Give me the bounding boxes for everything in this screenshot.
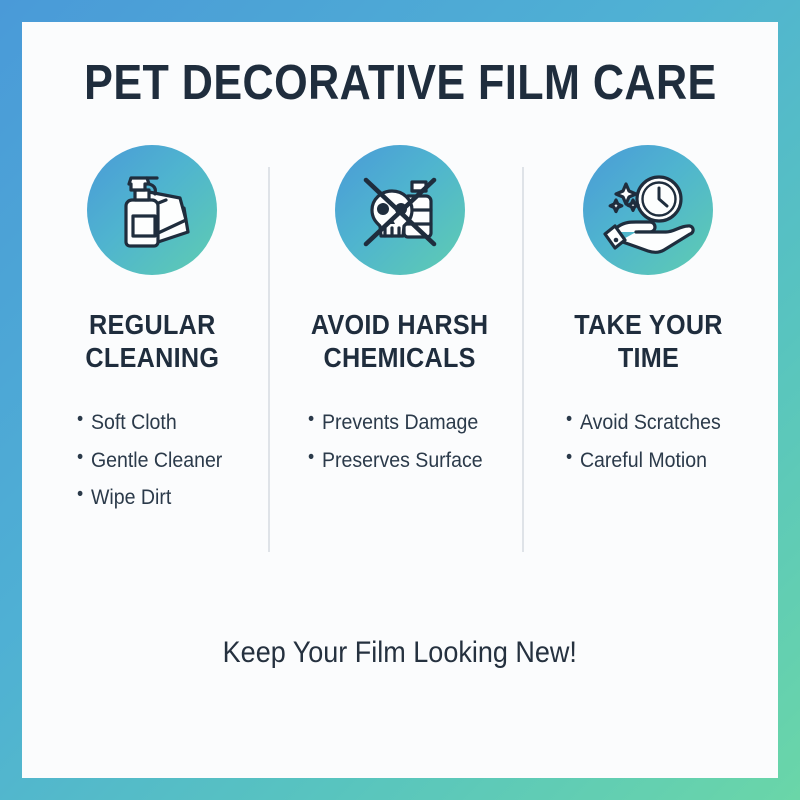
list-item: Careful Motion	[566, 442, 721, 479]
care-column-regular-cleaning: REGULAR CLEANING Soft Cloth Gentle Clean…	[28, 145, 276, 516]
footer-tagline: Keep Your Film Looking New!	[223, 636, 577, 670]
list-item: Avoid Scratches	[566, 404, 721, 441]
care-column-take-your-time: TAKE YOUR TIME Avoid Scratches Careful M…	[524, 145, 772, 479]
column-heading: TAKE YOUR TIME	[574, 309, 723, 374]
list-item: Preserves Surface	[308, 442, 483, 479]
column-divider-2	[522, 167, 524, 552]
care-column-avoid-harsh-chemicals: AVOID HARSH CHEMICALS Prevents Damage Pr…	[276, 145, 524, 479]
spray-bottle-cloth-icon	[87, 145, 217, 275]
care-columns: REGULAR CLEANING Soft Cloth Gentle Clean…	[22, 145, 778, 516]
column-bullets: Prevents Damage Preserves Surface	[308, 404, 496, 479]
poster-card: PET DECORATIVE FILM CARE	[22, 22, 778, 778]
column-divider-1	[268, 167, 270, 552]
page-title: PET DECORATIVE FILM CARE	[84, 58, 717, 109]
hand-holding-clock-icon	[583, 145, 713, 275]
no-harsh-chemicals-icon	[335, 145, 465, 275]
column-bullets: Avoid Scratches Careful Motion	[566, 404, 732, 479]
list-item: Prevents Damage	[308, 404, 483, 441]
column-bullets: Soft Cloth Gentle Cleaner Wipe Dirt	[77, 404, 233, 516]
column-heading: AVOID HARSH CHEMICALS	[311, 309, 489, 374]
list-item: Wipe Dirt	[77, 479, 222, 516]
infographic-poster: PET DECORATIVE FILM CARE	[0, 0, 800, 800]
list-item: Gentle Cleaner	[77, 442, 222, 479]
list-item: Soft Cloth	[77, 404, 222, 441]
column-heading: REGULAR CLEANING	[85, 309, 219, 374]
